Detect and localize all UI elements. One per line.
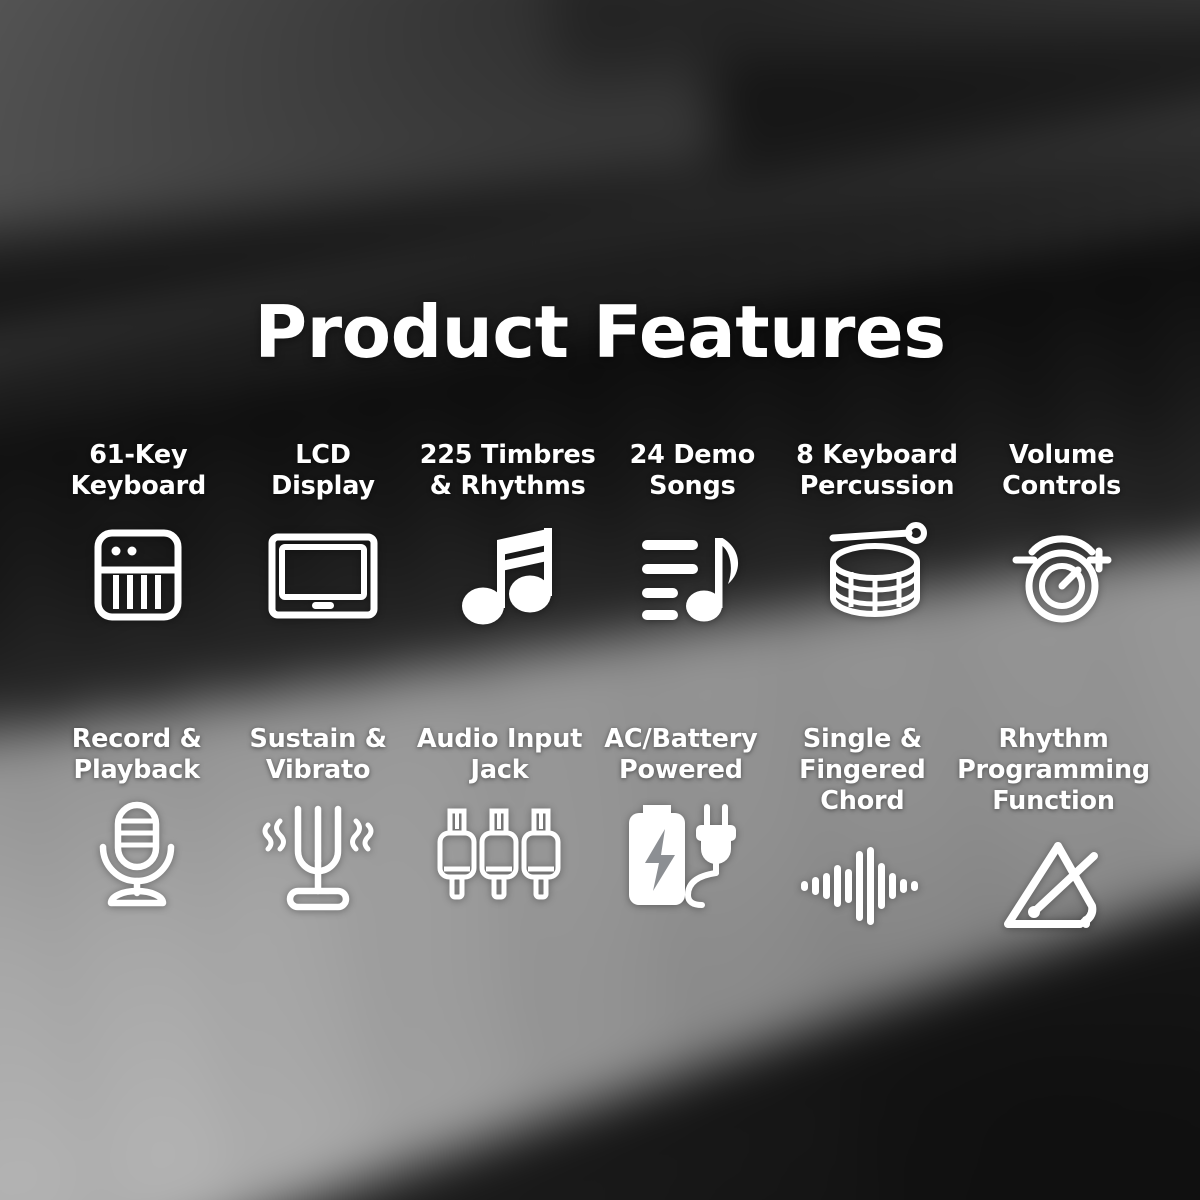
feature-item-keyboard-percussion: 8 Keyboard Percussion bbox=[785, 440, 970, 634]
beamed-eighth-notes-icon bbox=[456, 516, 560, 634]
snare-drum-icon bbox=[821, 516, 933, 634]
tuning-fork-icon bbox=[260, 796, 376, 914]
feature-label: Sustain & Vibrato bbox=[249, 724, 386, 786]
playlist-music-note-icon bbox=[636, 516, 748, 634]
feature-label: 225 Timbres & Rhythms bbox=[420, 440, 596, 502]
feature-label: AC/Battery Powered bbox=[604, 724, 757, 786]
sound-wave-icon bbox=[799, 827, 925, 945]
triangle-percussion-icon bbox=[998, 827, 1110, 945]
features-row-1: 61-Key Keyboard LCD Displa bbox=[46, 440, 1154, 634]
feature-item-lcd-display: LCD Display bbox=[231, 440, 416, 634]
feature-item-record-playback: Record & Playback bbox=[46, 724, 227, 945]
feature-item-61-key-keyboard: 61-Key Keyboard bbox=[46, 440, 231, 634]
feature-label: 8 Keyboard Percussion bbox=[796, 440, 958, 502]
feature-item-sustain-vibrato: Sustain & Vibrato bbox=[227, 724, 408, 945]
battery-plug-icon bbox=[621, 796, 741, 914]
lcd-screen-icon bbox=[264, 516, 382, 634]
feature-label: Audio Input Jack bbox=[417, 724, 582, 786]
feature-label: Volume Controls bbox=[1002, 440, 1121, 502]
feature-label: Single & Fingered Chord bbox=[799, 724, 925, 817]
feature-label: 61-Key Keyboard bbox=[71, 440, 206, 502]
feature-item-audio-input-jack: Audio Input Jack bbox=[409, 724, 590, 945]
content-overlay: Product Features 61-Key Keyboard bbox=[0, 0, 1200, 1200]
feature-item-single-fingered-chord: Single & Fingered Chord bbox=[772, 724, 953, 945]
page-title: Product Features bbox=[0, 296, 1200, 368]
microphone-icon bbox=[87, 796, 187, 914]
feature-item-timbres-rhythms: 225 Timbres & Rhythms bbox=[415, 440, 600, 634]
feature-label: Record & Playback bbox=[72, 724, 202, 786]
feature-item-rhythm-programming: Rhythm Programming Function bbox=[953, 724, 1154, 945]
feature-item-demo-songs: 24 Demo Songs bbox=[600, 440, 785, 634]
features-row-2: Record & Playback Sustain & Vibrato bbox=[46, 724, 1154, 945]
feature-label: 24 Demo Songs bbox=[630, 440, 756, 502]
feature-item-volume-controls: Volume Controls bbox=[969, 440, 1154, 634]
audio-jack-plugs-icon bbox=[436, 796, 564, 914]
feature-label: Rhythm Programming Function bbox=[957, 724, 1150, 817]
volume-knob-icon bbox=[1008, 516, 1116, 634]
feature-item-ac-battery-powered: AC/Battery Powered bbox=[590, 724, 771, 945]
feature-label: LCD Display bbox=[271, 440, 375, 502]
keyboard-panel-icon bbox=[86, 516, 190, 634]
infographic-stage: Product Features 61-Key Keyboard bbox=[0, 0, 1200, 1200]
